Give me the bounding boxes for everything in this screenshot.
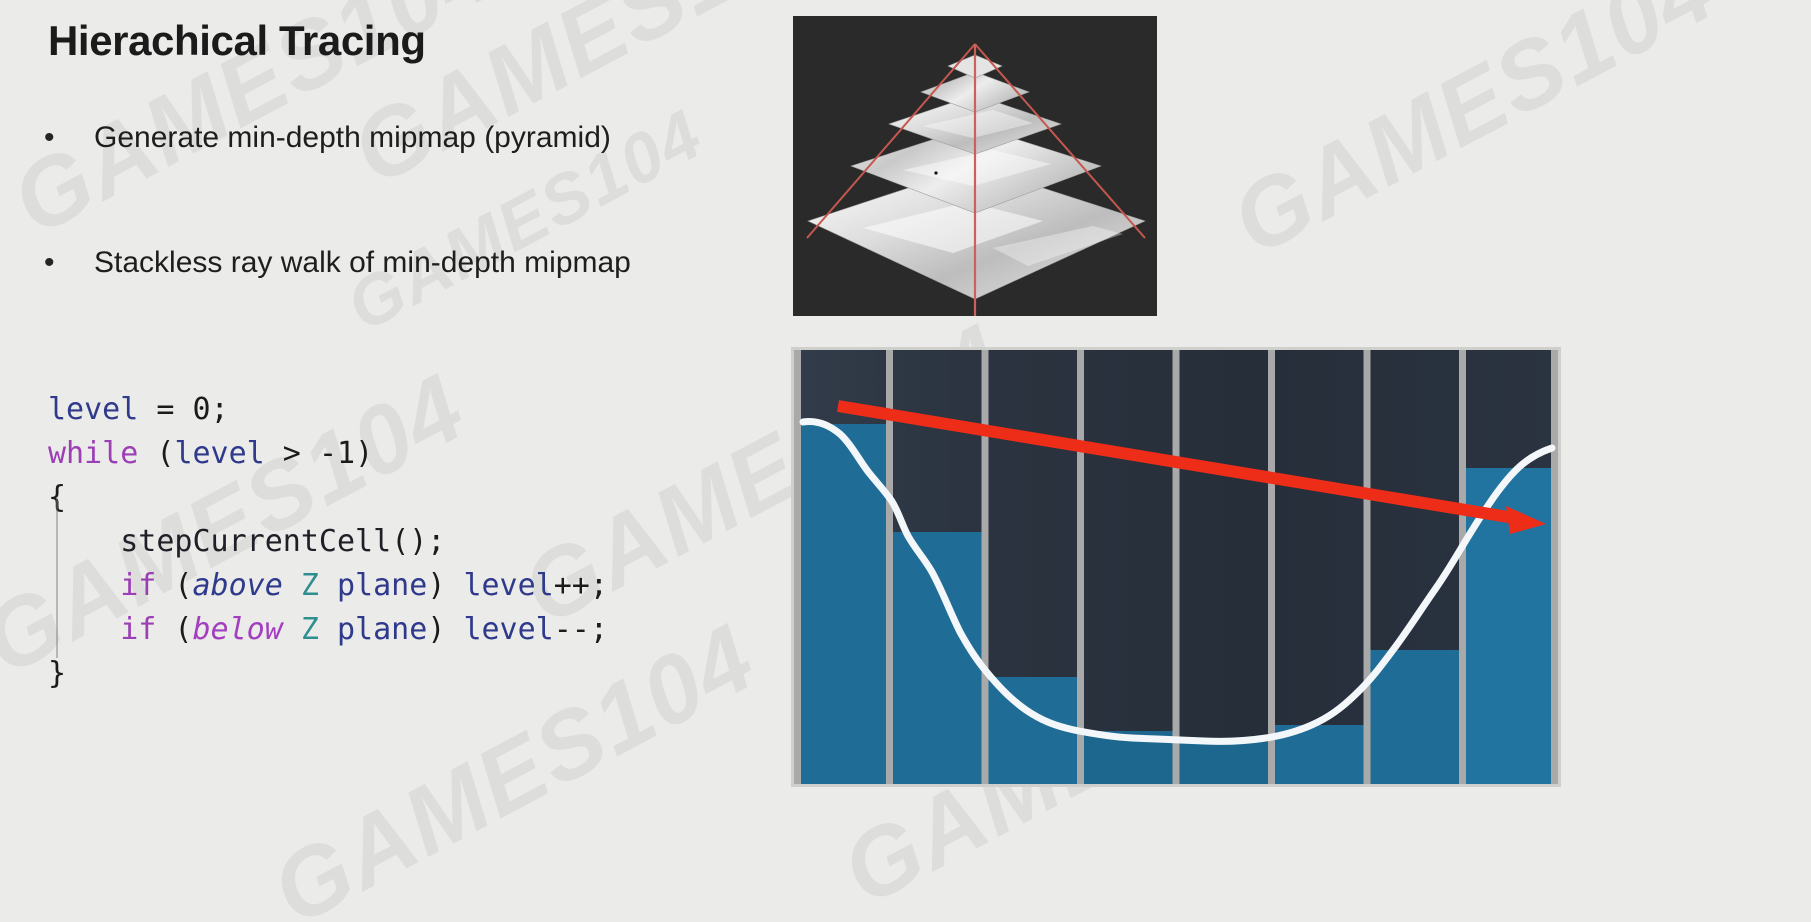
code-token: above — [193, 568, 283, 603]
code-token: --; — [554, 612, 608, 647]
code-token: ) — [427, 568, 463, 603]
bullet-icon: • — [44, 123, 94, 153]
code-indent — [48, 612, 120, 647]
slide-left-column: Hierachical Tracing • Generate min-depth… — [0, 0, 790, 922]
code-snippet: level = 0;while (level > -1){ stepCurren… — [48, 388, 608, 696]
bullet-icon: • — [44, 248, 94, 278]
code-token: Z — [301, 568, 319, 603]
code-token: -1 — [319, 436, 355, 471]
list-item: • Generate min-depth mipmap (pyramid) — [44, 120, 611, 156]
min-depth-raywalk-figure — [791, 347, 1561, 787]
code-indent — [48, 524, 120, 559]
code-line: if (below Z plane) level--; — [48, 608, 608, 652]
slide-root: Hierachical Tracing • Generate min-depth… — [0, 0, 1811, 922]
code-token — [319, 568, 337, 603]
code-line: while (level > -1) — [48, 432, 608, 476]
code-token: = — [138, 392, 192, 427]
code-token: ) — [427, 612, 463, 647]
code-token: ; — [211, 392, 229, 427]
mipmap-pyramid-figure — [793, 16, 1157, 316]
list-item: • Stackless ray walk of min-depth mipmap — [44, 245, 631, 281]
code-token: ( — [138, 436, 174, 471]
code-token — [319, 612, 337, 647]
code-line: } — [48, 652, 608, 696]
code-token: level — [463, 612, 553, 647]
page-title: Hierachical Tracing — [48, 17, 426, 65]
code-token — [283, 612, 301, 647]
code-indent — [48, 568, 120, 603]
code-token: ) — [355, 436, 373, 471]
code-token: if — [120, 612, 156, 647]
code-token: plane — [337, 612, 427, 647]
mipmap-pyramid-svg — [793, 16, 1157, 316]
bullet-label: Generate min-depth mipmap (pyramid) — [94, 120, 611, 156]
code-token: level — [174, 436, 264, 471]
code-token: 0 — [193, 392, 211, 427]
code-line: if (above Z plane) level++; — [48, 564, 608, 608]
code-line: { — [48, 476, 608, 520]
code-line: stepCurrentCell(); — [48, 520, 608, 564]
code-token: ++; — [554, 568, 608, 603]
code-token: > — [265, 436, 319, 471]
code-token: level — [463, 568, 553, 603]
code-token: stepCurrentCell — [120, 524, 391, 559]
code-token: } — [48, 656, 66, 691]
code-indent-guide — [56, 498, 58, 658]
code-token: (); — [391, 524, 445, 559]
code-token: below — [193, 612, 283, 647]
code-token: plane — [337, 568, 427, 603]
bullet-label: Stackless ray walk of min-depth mipmap — [94, 245, 631, 281]
code-token: ( — [156, 612, 192, 647]
code-token: level — [48, 392, 138, 427]
code-line: level = 0; — [48, 388, 608, 432]
depth-buffer-canvas — [794, 350, 1558, 784]
depth-buffer-svg — [794, 350, 1558, 784]
code-token: ( — [156, 568, 192, 603]
pyramid-speck — [934, 171, 937, 174]
code-token: while — [48, 436, 138, 471]
code-token: Z — [301, 612, 319, 647]
code-token: if — [120, 568, 156, 603]
code-token — [283, 568, 301, 603]
